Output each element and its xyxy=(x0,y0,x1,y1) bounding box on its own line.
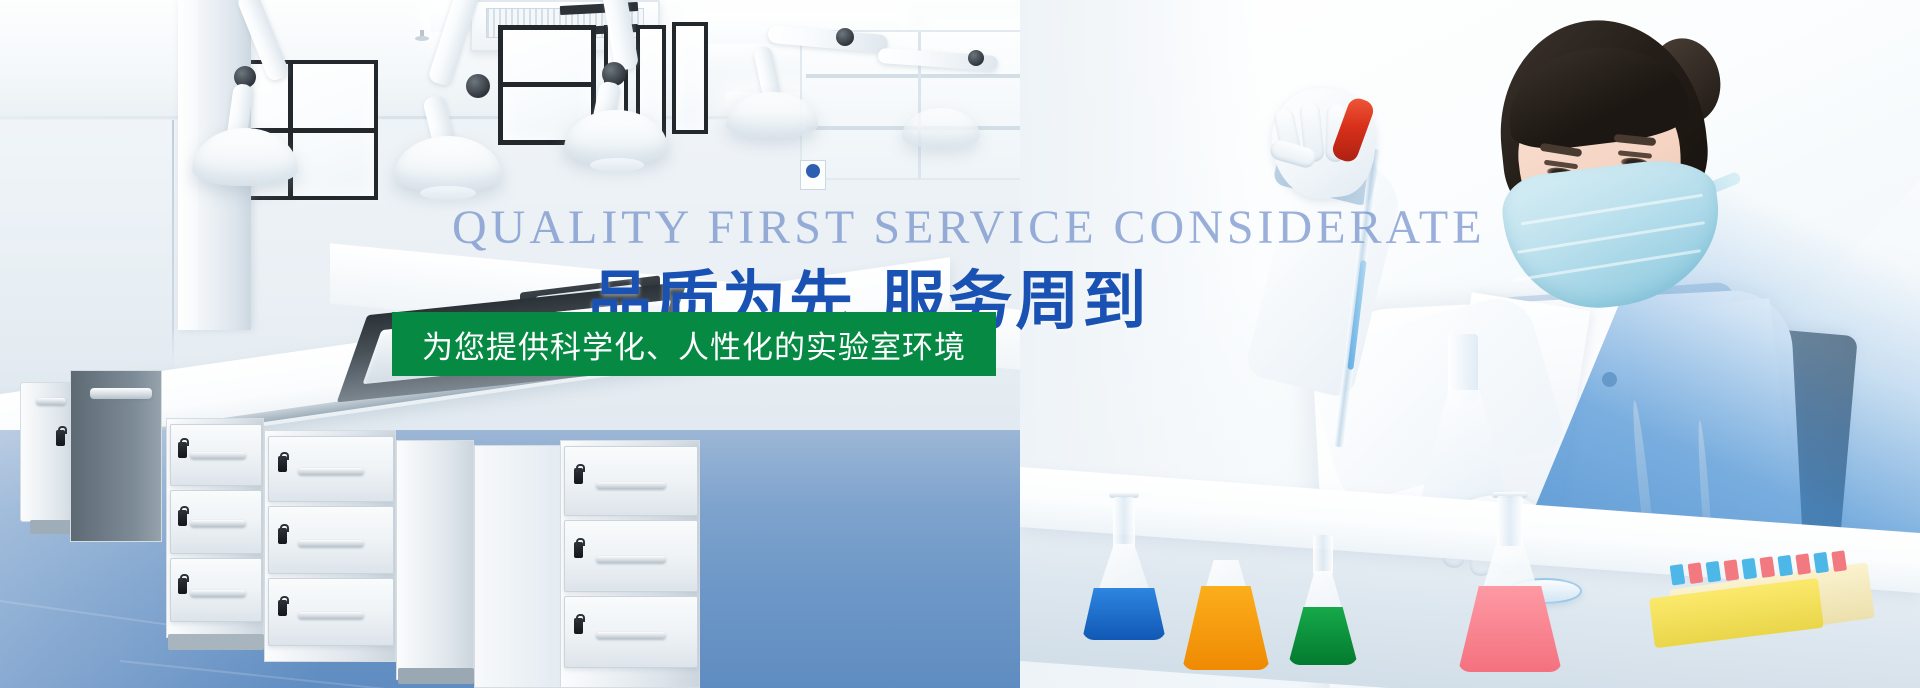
text-overlay: QUALITY FIRST SERVICE CONSIDERATE 品质为先 服… xyxy=(0,0,1920,688)
hero-banner: QUALITY FIRST SERVICE CONSIDERATE 品质为先 服… xyxy=(0,0,1920,688)
subtitle-banner: 为您提供科学化、人性化的实验室环境 xyxy=(392,312,996,376)
chinese-subtitle: 为您提供科学化、人性化的实验室环境 xyxy=(422,322,966,367)
english-tagline: QUALITY FIRST SERVICE CONSIDERATE xyxy=(452,200,1486,255)
